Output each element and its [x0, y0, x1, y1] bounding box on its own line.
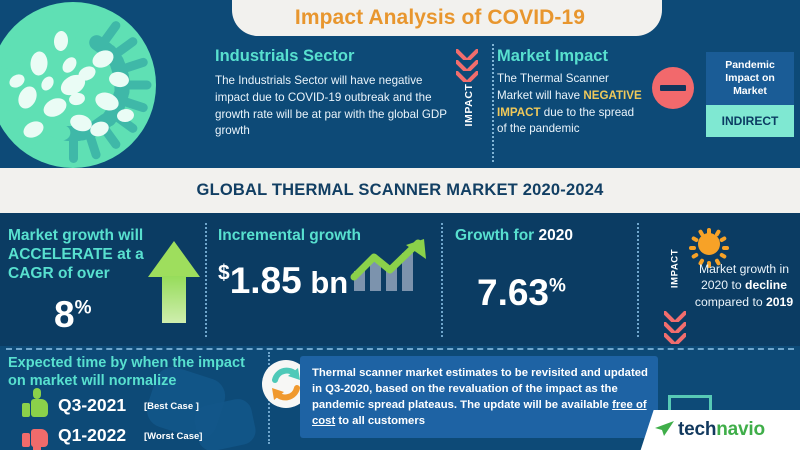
pandemic-impact-value: INDIRECT: [706, 105, 794, 137]
no-entry-icon: [652, 67, 694, 109]
thumbs-down-icon: [22, 425, 48, 447]
stat-growth-2020: Growth for 2020 7.63%: [455, 227, 635, 314]
top-section: Impact Analysis of COVID-19 Industrials …: [0, 0, 800, 168]
divider-dashed-top: [6, 348, 794, 350]
impact-rail-label: IMPACT: [463, 72, 475, 138]
normalize-case-worst-note: [Worst Case]: [144, 431, 202, 442]
title-plate: Impact Analysis of COVID-19: [232, 0, 662, 36]
normalize-case-worst-period: Q1-2022: [58, 425, 126, 446]
virus-spike: [719, 236, 727, 243]
virus-spike: [707, 228, 711, 235]
normalize-case-best-period: Q3-2021: [58, 395, 126, 416]
market-impact-block: Market Impact The Thermal Scanner Market…: [497, 47, 645, 138]
divider-dotted-4: [637, 223, 639, 337]
normalize-case-worst: Q1-2022 [Worst Case]: [8, 423, 260, 450]
normalize-case-best-note: [Best Case ]: [144, 401, 199, 412]
stat-growth-value: 7.63: [477, 272, 549, 313]
virus-spike: [691, 252, 699, 259]
chevron-down-icon: [664, 333, 686, 344]
chevron-down-icon: [456, 49, 478, 60]
stat-growth-suffix: %: [549, 276, 566, 297]
stat-incremental-prefix: $: [218, 262, 230, 285]
normalize-heading: Expected time by when the impact on mark…: [8, 354, 260, 390]
technavio-logo: technavio: [678, 419, 765, 441]
chevron-down-icon: [664, 322, 686, 333]
stats-section: Market growth will ACCELERATE at a CAGR …: [0, 213, 800, 346]
chevron-down-icon: [664, 311, 686, 322]
logo-text-dark: tech: [678, 419, 716, 440]
bar-chart-trend-icon: [348, 237, 432, 295]
stat-incremental-value: 1.85: [230, 260, 302, 301]
thumbs-up-icon: [22, 395, 48, 417]
arrow-up-icon: [148, 241, 200, 323]
decline-text-2: compared to: [695, 295, 766, 309]
decline-bold-2: 2019: [766, 295, 793, 309]
virus-spike: [689, 246, 696, 250]
market-impact-heading: Market Impact: [497, 47, 645, 66]
industrials-body: The Industrials Sector will have negativ…: [215, 73, 447, 140]
page-title: Impact Analysis of COVID-19: [232, 6, 648, 30]
industrials-sector-block: Industrials Sector The Industrials Secto…: [215, 47, 447, 140]
impact-rail-top: IMPACT: [452, 47, 486, 159]
normalize-block: Expected time by when the impact on mark…: [8, 354, 260, 450]
impact-rail-bottom-label: IMPACT: [670, 238, 681, 300]
coronavirus-icon: [0, 0, 198, 168]
stat-growth-year: 2020: [539, 227, 573, 244]
chevron-down-icon: [456, 60, 478, 71]
update-note: Thermal scanner market estimates to be r…: [300, 356, 658, 438]
logo-text-green: navio: [716, 419, 765, 440]
normalize-case-best: Q3-2021 [Best Case ]: [8, 393, 260, 420]
decline-bold-1: decline: [745, 278, 787, 292]
industrials-heading: Industrials Sector: [215, 47, 447, 66]
market-banner: GLOBAL THERMAL SCANNER MARKET 2020-2024: [0, 168, 800, 213]
coronavirus-icon: [692, 227, 726, 261]
virus-spike: [722, 246, 729, 250]
pandemic-impact-header: Pandemic Impact on Market: [706, 52, 794, 105]
market-banner-title: GLOBAL THERMAL SCANNER MARKET 2020-2024: [0, 181, 800, 200]
decline-text: Market growth in 2020 to decline compare…: [690, 261, 798, 310]
virus-spike: [69, 133, 78, 163]
infographic-root: Impact Analysis of COVID-19 Industrials …: [0, 0, 800, 450]
stat-growth-title-wrap: Growth for 2020: [455, 227, 635, 246]
stat-incremental-suffix: bn: [302, 265, 349, 300]
pandemic-impact-box: Pandemic Impact on Market INDIRECT: [706, 52, 794, 137]
stat-growth-value-wrap: 7.63%: [477, 272, 635, 314]
divider-dotted-2: [205, 223, 207, 337]
impact-rail-bottom: IMPACT: [660, 237, 690, 345]
trend-arrow-icon: [348, 237, 432, 295]
update-note-text-2: to all customers: [335, 415, 425, 427]
market-impact-body: The Thermal Scanner Market will have NEG…: [497, 71, 645, 138]
divider-dotted-3: [441, 223, 443, 337]
stat-cagr-value: 8: [54, 294, 75, 335]
paper-plane-icon: [655, 421, 675, 437]
stat-cagr-suffix: %: [75, 297, 92, 318]
stat-growth-title: Growth for: [455, 227, 539, 244]
update-note-text-1: Thermal scanner market estimates to be r…: [312, 367, 648, 411]
virus-spike: [691, 236, 699, 243]
divider-dotted-1: [492, 44, 494, 162]
virus-spike: [719, 252, 727, 259]
